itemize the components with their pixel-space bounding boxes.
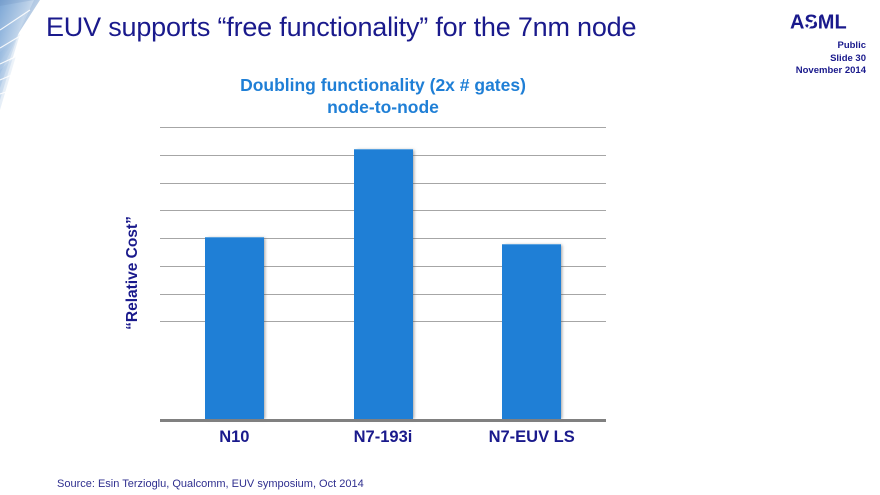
slide-canvas: EUV supports “free functionality” for th…	[0, 0, 880, 495]
brand-block: ASML Public Slide 30 November 2014	[756, 10, 866, 78]
chart-title-line-2: node-to-node	[160, 96, 606, 118]
classification-label: Public	[756, 40, 866, 53]
page-title: EUV supports “free functionality” for th…	[46, 12, 746, 43]
y-axis-label: “Relative Cost”	[124, 198, 142, 348]
slide-number-label: Slide 30	[756, 53, 866, 66]
x-axis-tick-label: N7-EUV LS	[457, 428, 606, 447]
chart-title: Doubling functionality (2x # gates) node…	[160, 74, 606, 118]
x-axis-tick-label: N10	[160, 428, 309, 447]
x-axis-labels: N10N7-193iN7-EUV LS	[160, 428, 606, 452]
gridline	[160, 127, 606, 128]
asml-logo: ASML	[790, 10, 866, 34]
source-note: Source: Esin Terzioglu, Qualcomm, EUV sy…	[57, 478, 364, 490]
chart-title-line-1: Doubling functionality (2x # gates)	[160, 74, 606, 96]
x-axis-tick-label: N7-193i	[309, 428, 458, 447]
bar	[502, 244, 561, 420]
slide-metadata: Public Slide 30 November 2014	[756, 40, 866, 78]
bar	[354, 149, 413, 420]
x-axis-baseline	[160, 419, 606, 422]
bar	[205, 237, 264, 421]
chart-plot-area	[160, 124, 606, 422]
date-label: November 2014	[756, 65, 866, 78]
